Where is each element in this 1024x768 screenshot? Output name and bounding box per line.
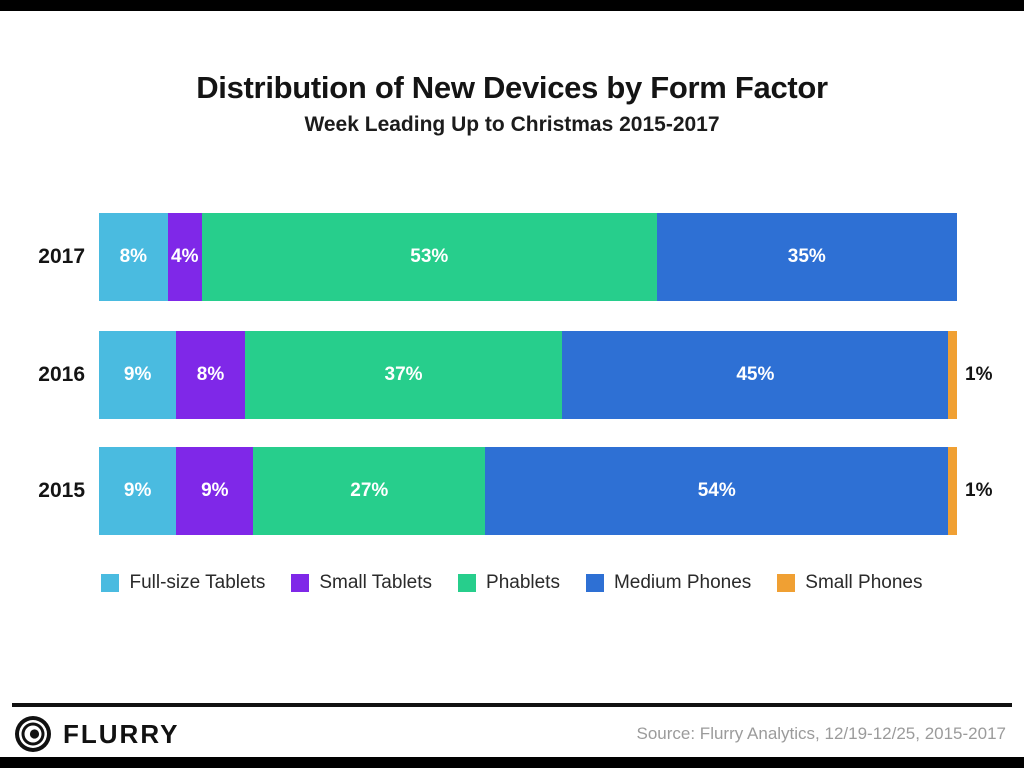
bar-segment-full-size-tablets[interactable]: 9%	[99, 331, 176, 419]
segment-value-label: 8%	[120, 246, 147, 268]
row-label-2016: 2016	[0, 331, 85, 419]
bar-segment-small-tablets[interactable]: 4%	[168, 213, 202, 301]
legend-swatch-icon	[458, 574, 476, 592]
row-label-2017: 2017	[0, 213, 85, 301]
bar-segment-medium-phones[interactable]: 45%	[562, 331, 948, 419]
bar-segment-full-size-tablets[interactable]: 8%	[99, 213, 168, 301]
legend-label: Small Phones	[805, 572, 922, 594]
chart-legend: Full-size TabletsSmall TabletsPhabletsMe…	[0, 572, 1024, 594]
bar-segment-full-size-tablets[interactable]: 9%	[99, 447, 176, 535]
chart-row-2017: 20178%4%53%35%	[0, 213, 1024, 301]
bar-segment-phablets[interactable]: 53%	[202, 213, 657, 301]
bottom-letterbox-band	[0, 757, 1024, 768]
flurry-logo-icon	[14, 715, 52, 753]
segment-outside-value-label: 1%	[965, 331, 992, 419]
stacked-bar-2015: 9%9%27%54%	[99, 447, 957, 535]
legend-label: Phablets	[486, 572, 560, 594]
bar-segment-phablets[interactable]: 27%	[253, 447, 485, 535]
segment-value-label: 9%	[124, 364, 151, 386]
bar-segment-small-phones[interactable]	[948, 447, 957, 535]
legend-swatch-icon	[101, 574, 119, 592]
segment-value-label: 35%	[788, 246, 826, 268]
segment-value-label: 54%	[698, 480, 736, 502]
legend-item-full-size-tablets[interactable]: Full-size Tablets	[101, 572, 265, 594]
legend-item-medium-phones[interactable]: Medium Phones	[586, 572, 751, 594]
segment-value-label: 8%	[197, 364, 224, 386]
stacked-bar-2016: 9%8%37%45%	[99, 331, 957, 419]
bar-segment-medium-phones[interactable]: 35%	[657, 213, 957, 301]
chart-row-2016: 20169%8%37%45%1%	[0, 331, 1024, 419]
row-label-2015: 2015	[0, 447, 85, 535]
legend-swatch-icon	[586, 574, 604, 592]
segment-value-label: 9%	[124, 480, 151, 502]
segment-value-label: 4%	[171, 246, 198, 268]
legend-label: Medium Phones	[614, 572, 751, 594]
stacked-bar-chart: 20178%4%53%35%20169%8%37%45%1%20159%9%27…	[0, 0, 1024, 768]
stacked-bar-2017: 8%4%53%35%	[99, 213, 957, 301]
brand: FLURRY	[14, 715, 179, 753]
bar-segment-small-tablets[interactable]: 9%	[176, 447, 253, 535]
legend-item-phablets[interactable]: Phablets	[458, 572, 560, 594]
legend-item-small-phones[interactable]: Small Phones	[777, 572, 922, 594]
bar-segment-phablets[interactable]: 37%	[245, 331, 562, 419]
legend-label: Small Tablets	[319, 572, 432, 594]
segment-value-label: 37%	[385, 364, 423, 386]
legend-swatch-icon	[777, 574, 795, 592]
chart-row-2015: 20159%9%27%54%1%	[0, 447, 1024, 535]
legend-item-small-tablets[interactable]: Small Tablets	[291, 572, 432, 594]
bar-segment-small-tablets[interactable]: 8%	[176, 331, 245, 419]
bar-segment-medium-phones[interactable]: 54%	[485, 447, 948, 535]
legend-swatch-icon	[291, 574, 309, 592]
chart-footer: FLURRY Source: Flurry Analytics, 12/19-1…	[0, 707, 1024, 757]
legend-label: Full-size Tablets	[129, 572, 265, 594]
chart-page: Distribution of New Devices by Form Fact…	[0, 0, 1024, 768]
source-note: Source: Flurry Analytics, 12/19-12/25, 2…	[637, 724, 1007, 744]
bar-segment-small-phones[interactable]	[948, 331, 957, 419]
segment-value-label: 45%	[736, 364, 774, 386]
segment-value-label: 9%	[201, 480, 228, 502]
segment-value-label: 27%	[350, 480, 388, 502]
brand-name: FLURRY	[63, 719, 179, 750]
segment-outside-value-label: 1%	[965, 447, 992, 535]
segment-value-label: 53%	[410, 246, 448, 268]
